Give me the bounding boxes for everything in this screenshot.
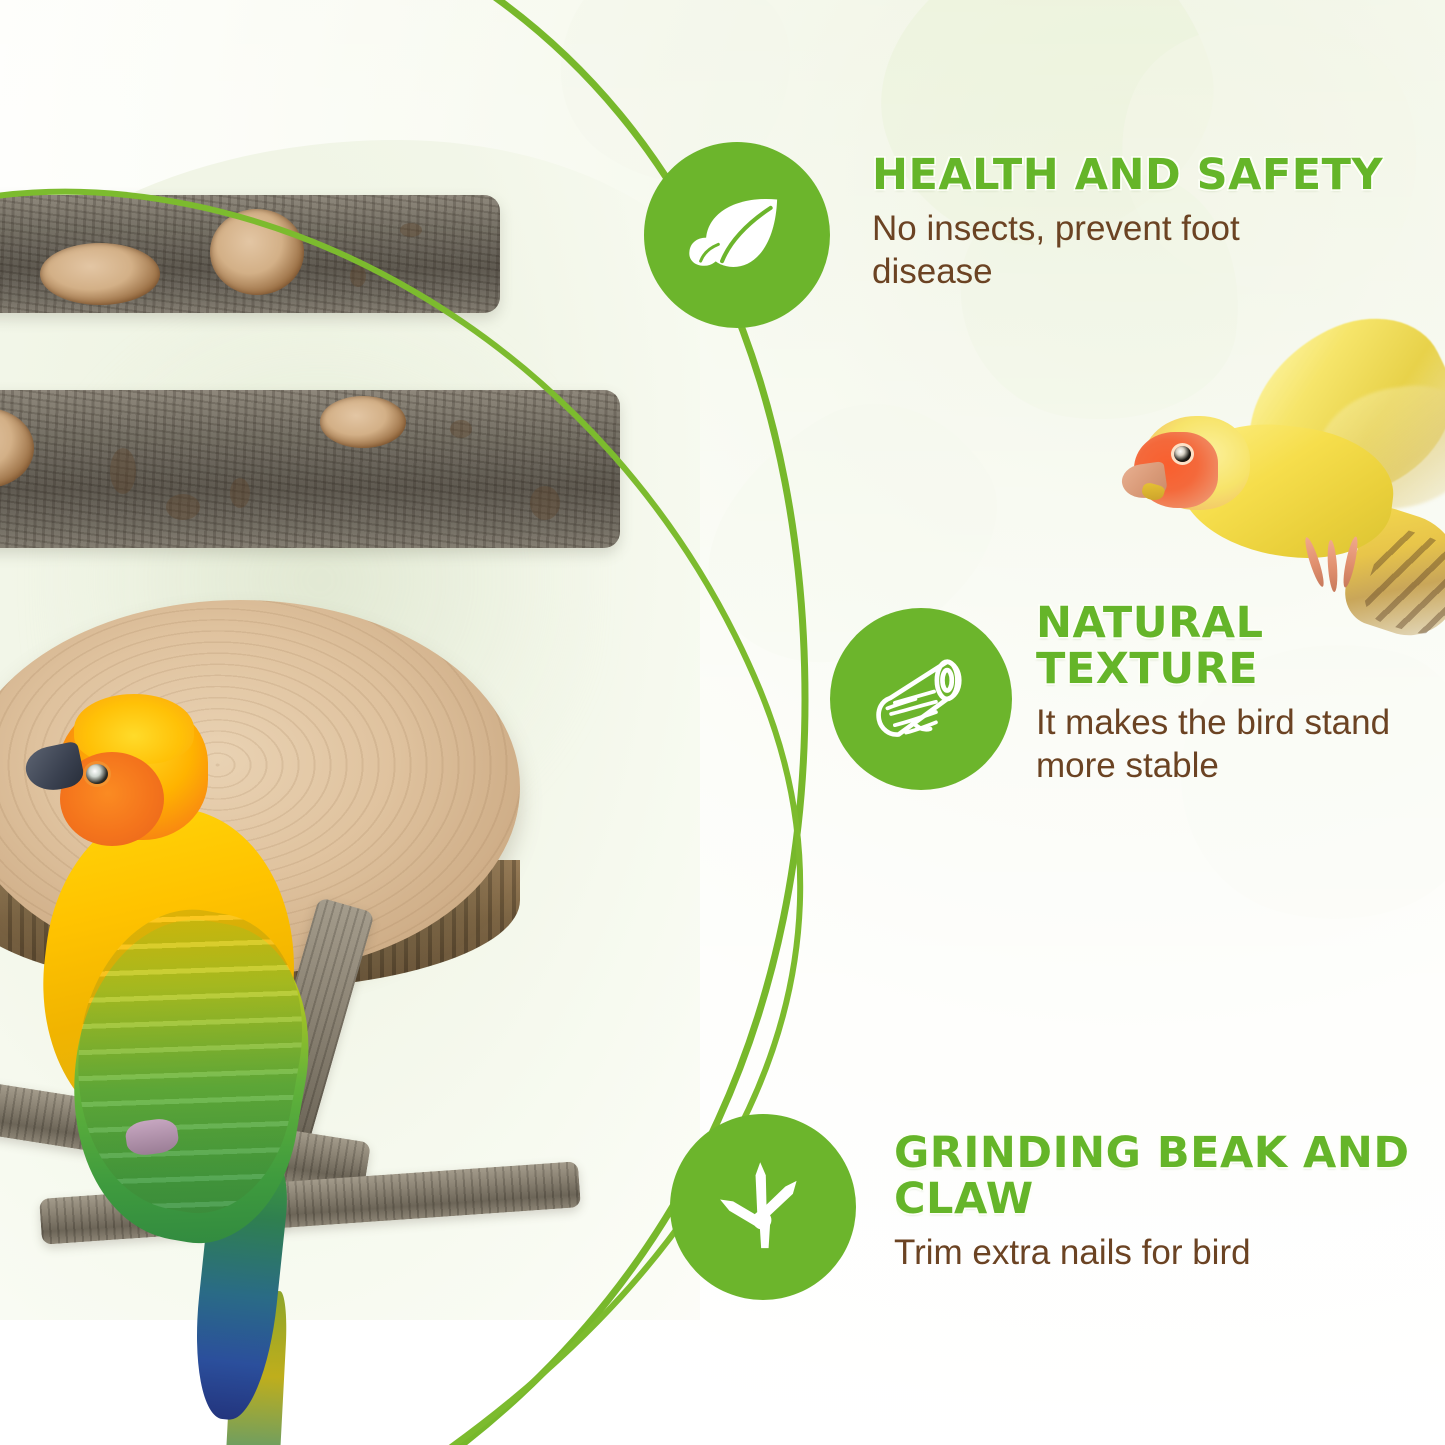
bark-speck: [350, 265, 366, 287]
feature-title: NATURAL TEXTURE: [1036, 600, 1445, 692]
log-icon-glyph: [865, 643, 977, 755]
wood-perch-middle: [0, 390, 620, 548]
leaf-icon-glyph: [681, 179, 793, 291]
bird-claw-icon[interactable]: [670, 1114, 856, 1300]
wood-knot: [320, 396, 406, 448]
feature-description: No insects, prevent foot disease: [872, 208, 1412, 293]
feature-text-block: HEALTH AND SAFETY No insects, prevent fo…: [872, 152, 1412, 293]
product-photo: [0, 0, 700, 1445]
bark-speck: [230, 478, 250, 508]
wood-knot: [40, 243, 160, 305]
wood-knot: [210, 209, 304, 295]
leaf-icon[interactable]: [644, 142, 830, 328]
lovebird-claw: [1302, 536, 1327, 588]
feature-description: Trim extra nails for bird: [894, 1232, 1434, 1275]
infographic-canvas: HEALTH AND SAFETY No insects, prevent fo…: [0, 0, 1445, 1445]
parrot-eye: [86, 764, 108, 784]
log-icon[interactable]: [830, 608, 1012, 790]
bark-speck: [400, 223, 422, 237]
sun-conure-parrot: [30, 690, 360, 1390]
lovebird-claw: [1326, 540, 1339, 593]
feature-text-block: NATURAL TEXTURE It makes the bird stand …: [1036, 600, 1445, 787]
feature-title: GRINDING BEAK AND CLAW: [894, 1130, 1434, 1222]
feature-title: HEALTH AND SAFETY: [872, 152, 1412, 198]
bark-speck: [110, 448, 136, 494]
lovebird-claw: [1341, 536, 1361, 589]
feature-description: It makes the bird stand more stable: [1036, 702, 1445, 787]
bark-speck: [166, 494, 200, 520]
feature-text-block: GRINDING BEAK AND CLAW Trim extra nails …: [894, 1130, 1434, 1275]
bird-claw-icon-glyph: [707, 1151, 819, 1263]
parrot-crown: [74, 694, 194, 764]
lovebird-feet: [1306, 536, 1378, 608]
wood-perch-top: [0, 195, 500, 313]
bark-texture: [0, 390, 620, 548]
lovebird-eye: [1174, 446, 1191, 462]
bark-speck: [450, 420, 472, 438]
bark-speck: [530, 486, 560, 520]
